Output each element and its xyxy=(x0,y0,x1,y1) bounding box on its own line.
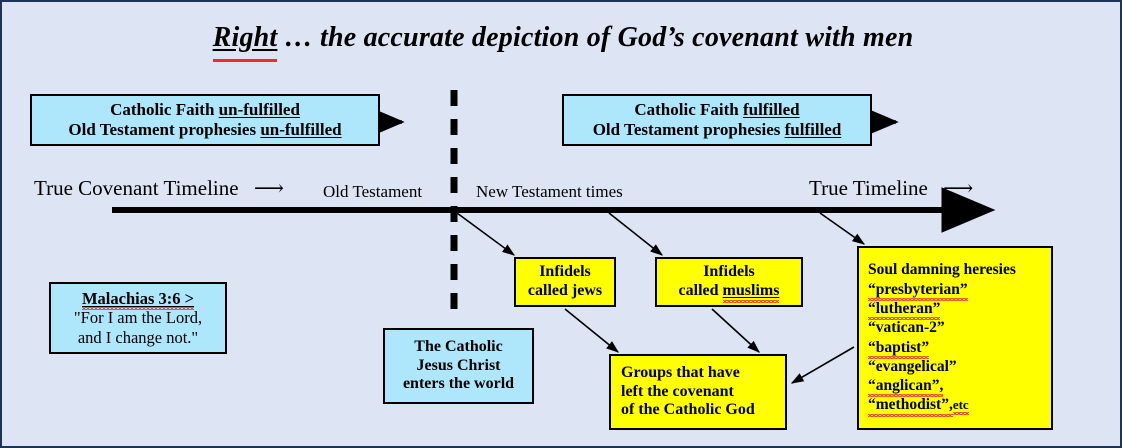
box-fulfilled-line1-text: Catholic Faith xyxy=(634,100,743,119)
timeline-right-arrow-icon: ⟶ xyxy=(933,176,973,200)
box-unfulfilled-line2-text: Old Testament prophesies xyxy=(68,120,260,139)
box-heresies-line5: “baptist” xyxy=(868,339,929,357)
box-heresies-line7: “anglican”, xyxy=(868,377,943,395)
box-malachias-quote: Malachias 3:6 > "For I am the Lord, and … xyxy=(49,282,227,354)
box-jesus-line2: Jesus Christ xyxy=(416,357,500,376)
box-malachias-line3: and I change not." xyxy=(78,328,198,347)
timeline-old-testament-label: Old Testament xyxy=(323,182,422,202)
page-title: Right … the accurate depiction of God’s … xyxy=(2,22,1122,54)
arrow-timeline-to-heresies xyxy=(820,213,864,244)
box-infidels-muslims: Infidels called muslims xyxy=(655,257,803,307)
box-heresies-line2: “presbyterian” xyxy=(868,281,968,299)
box-malachias-line1: Malachias 3:6 > xyxy=(82,289,194,308)
timeline-left-label-text: True Covenant Timeline xyxy=(34,176,239,200)
box-heresies-line4: “vatican-2” xyxy=(868,319,945,337)
box-unfulfilled-line2-emph: un-fulfilled xyxy=(260,120,341,139)
timeline-left-label: True Covenant Timeline ⟶ xyxy=(34,176,284,201)
box-jews-line1: Infidels xyxy=(539,263,591,282)
box-soul-damning-heresies: Soul damning heresies “presbyterian” “lu… xyxy=(857,246,1053,430)
box-jesus-line3: enters the world xyxy=(403,375,514,394)
box-heresies-line1: Soul damning heresies xyxy=(868,261,1016,279)
box-malachias-line2: "For I am the Lord, xyxy=(74,308,202,327)
box-jesus-enters-world: The Catholic Jesus Christ enters the wor… xyxy=(383,328,534,404)
timeline-left-arrow-icon: ⟶ xyxy=(244,176,284,200)
timeline-new-testament-label: New Testament times xyxy=(476,182,623,202)
box-catholic-faith-unfulfilled: Catholic Faith un-fulfilled Old Testamen… xyxy=(30,94,380,146)
arrow-heresies-to-groups xyxy=(792,347,854,383)
box-unfulfilled-line2: Old Testament prophesies un-fulfilled xyxy=(68,120,341,140)
page-title-keyword: Right xyxy=(213,22,278,53)
box-heresies-line2-text: “presbyterian” xyxy=(868,281,968,299)
arrow-jews-to-groups xyxy=(565,309,618,352)
box-unfulfilled-line1-emph: un-fulfilled xyxy=(219,100,300,119)
box-heresies-line5-text: “baptist” xyxy=(868,339,929,357)
box-heresies-line8-text: “methodist”, xyxy=(868,396,953,414)
box-infidels-jews: Infidels called jews xyxy=(514,257,616,307)
box-jews-line2: called jews xyxy=(528,282,602,301)
box-catholic-faith-fulfilled: Catholic Faith fulfilled Old Testament p… xyxy=(562,94,872,146)
box-heresies-line3: “lutheran” xyxy=(868,300,940,318)
box-fulfilled-line2: Old Testament prophesies fulfilled xyxy=(593,120,842,140)
box-groups-left-covenant: Groups that have left the covenant of th… xyxy=(609,354,787,430)
box-malachias-citation: Malachias 3:6 > xyxy=(82,289,194,308)
box-muslims-line2: called muslims xyxy=(679,282,780,301)
box-muslims-line1: Infidels xyxy=(703,263,755,282)
box-heresies-line8: “methodist”, etc xyxy=(868,396,969,414)
page-title-rest: … the accurate depiction of God’s covena… xyxy=(277,22,913,53)
box-unfulfilled-line1-text: Catholic Faith xyxy=(110,100,219,119)
box-fulfilled-line1: Catholic Faith fulfilled xyxy=(634,100,799,120)
box-unfulfilled-line1: Catholic Faith un-fulfilled xyxy=(110,100,300,120)
slide-canvas: Right … the accurate depiction of God’s … xyxy=(0,0,1122,448)
box-fulfilled-line2-text: Old Testament prophesies xyxy=(593,120,785,139)
arrow-muslims-to-groups xyxy=(712,309,759,352)
timeline-right-label: True Timeline ⟶ xyxy=(809,176,973,201)
box-jesus-line1: The Catholic xyxy=(414,338,502,357)
box-heresies-line3-text: “lutheran” xyxy=(868,300,940,318)
box-heresies-line8-etc: etc xyxy=(953,397,969,412)
box-muslims-line2-emph: muslims xyxy=(723,282,780,301)
arrow-timeline-to-muslims xyxy=(609,213,662,255)
box-heresies-line7-text: “anglican”, xyxy=(868,377,943,395)
timeline-right-label-text: True Timeline xyxy=(809,176,928,200)
box-groups-line1: Groups that have xyxy=(621,364,740,383)
box-fulfilled-line2-emph: fulfilled xyxy=(785,120,842,139)
box-muslims-line2-text: called xyxy=(679,282,723,299)
box-heresies-line6: “evangelical” xyxy=(868,358,957,376)
box-groups-line3: of the Catholic God xyxy=(621,401,755,420)
box-groups-line2: left the covenant xyxy=(621,383,734,402)
box-fulfilled-line1-emph: fulfilled xyxy=(743,100,800,119)
arrow-timeline-to-jews xyxy=(457,213,514,255)
